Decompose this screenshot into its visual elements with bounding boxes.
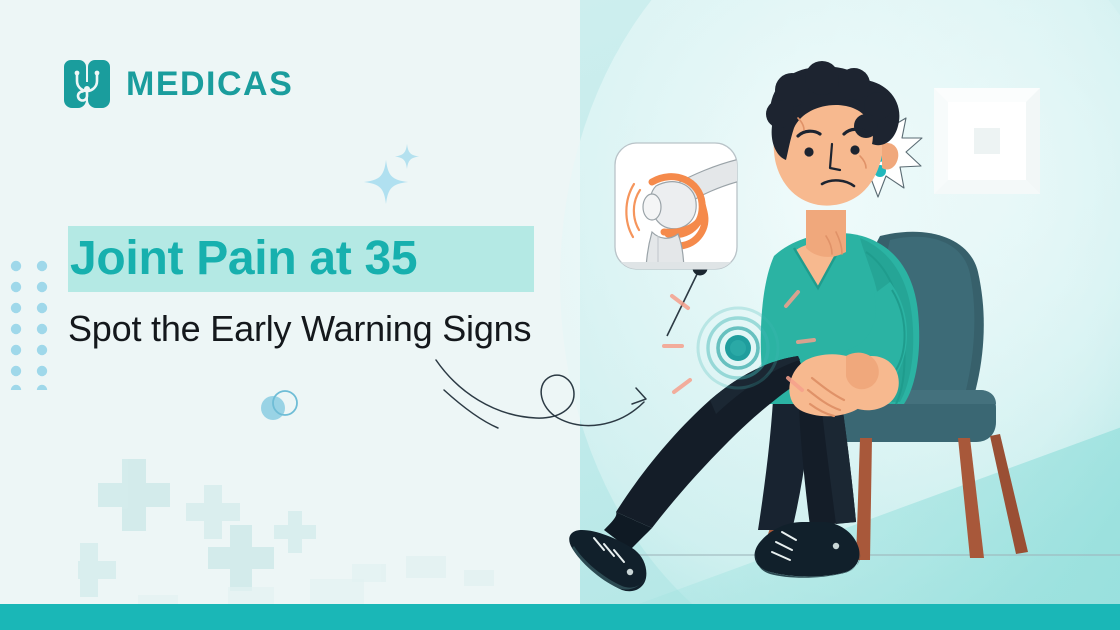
- hero-illustration: [560, 60, 1120, 600]
- medical-stethoscope-monogram-icon: [62, 58, 112, 110]
- page-title: Joint Pain at 35: [70, 226, 590, 292]
- brand-logo[interactable]: MEDICAS: [62, 58, 293, 110]
- overlapping-circles-decor: [258, 388, 304, 429]
- headline-block: Joint Pain at 35: [70, 226, 590, 292]
- sparkle-stars-icon: [352, 132, 432, 217]
- page-subtitle: Spot the Early Warning Signs: [68, 305, 558, 353]
- dot-grid-pattern: [8, 258, 52, 395]
- bottom-accent-bar: [0, 604, 1120, 630]
- banner-canvas: MEDICAS Joint Pain at 35 Spot the Early …: [0, 0, 1120, 630]
- seated-man-illustration: [560, 60, 1120, 605]
- brand-wordmark: MEDICAS: [126, 67, 293, 101]
